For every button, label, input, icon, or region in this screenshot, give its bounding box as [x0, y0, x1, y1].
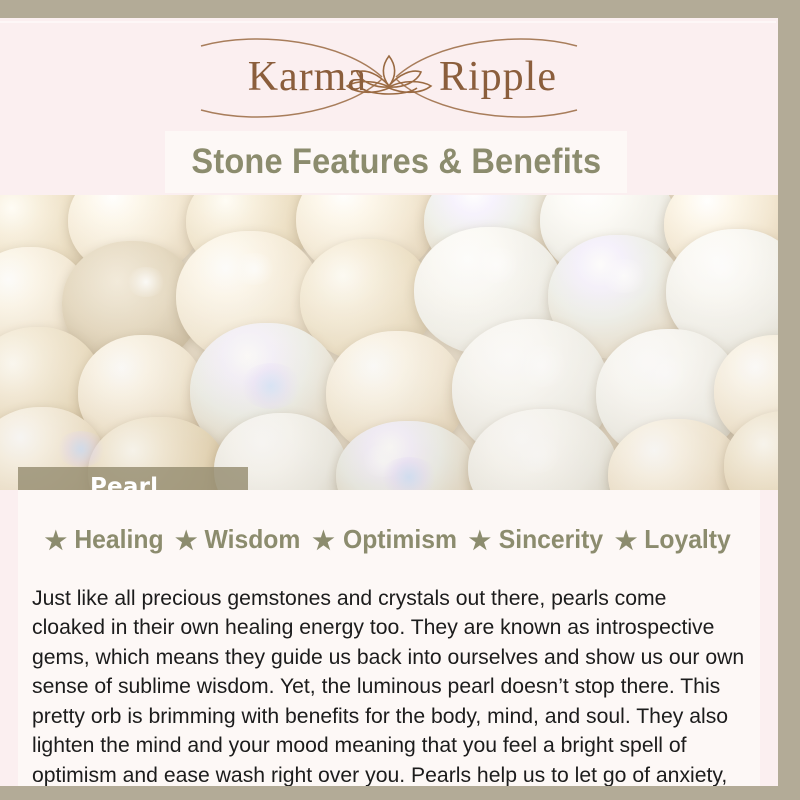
title-banner: Stone Features & Benefits	[165, 131, 627, 193]
keyword-item-optimism: ★Optimism	[303, 524, 459, 554]
brand-logo-svg: Karma Ripple	[139, 32, 639, 124]
keyword-label: Healing	[74, 524, 163, 555]
keyword-item-wisdom: ★Wisdom	[166, 524, 303, 554]
keyword-label: Loyalty	[645, 524, 731, 555]
description-panel: ★Healing★Wisdom★Optimism★Sincerity★Loyal…	[18, 490, 760, 786]
pearl-photo: Pearl	[0, 195, 778, 490]
star-icon: ★	[175, 526, 197, 556]
star-icon: ★	[45, 526, 67, 556]
brand-name-left: Karma	[248, 54, 367, 100]
content-card: Karma Ripple Stone Features & Benefits	[0, 18, 778, 786]
keyword-label: Sincerity	[499, 524, 603, 555]
keyword-list: ★Healing★Wisdom★Optimism★Sincerity★Loyal…	[18, 524, 760, 556]
keyword-label: Optimism	[343, 524, 457, 555]
outer-frame: Karma Ripple Stone Features & Benefits	[0, 0, 800, 800]
keyword-item-healing: ★Healing	[45, 524, 166, 554]
star-icon: ★	[312, 526, 334, 556]
brand-logo: Karma Ripple	[0, 32, 778, 128]
stone-name: Pearl	[90, 474, 158, 491]
keyword-item-loyalty: ★Loyalty	[606, 524, 733, 554]
page-title: Stone Features & Benefits	[191, 142, 601, 182]
card-top-hairline	[0, 21, 776, 23]
brand-name-right: Ripple	[439, 54, 557, 100]
keyword-item-sincerity: ★Sincerity	[460, 524, 606, 554]
star-icon: ★	[469, 526, 491, 556]
description-text: Just like all precious gemstones and cry…	[32, 584, 745, 787]
stone-name-bar: Pearl	[18, 467, 248, 490]
keyword-label: Wisdom	[205, 524, 301, 555]
star-icon: ★	[615, 526, 637, 556]
